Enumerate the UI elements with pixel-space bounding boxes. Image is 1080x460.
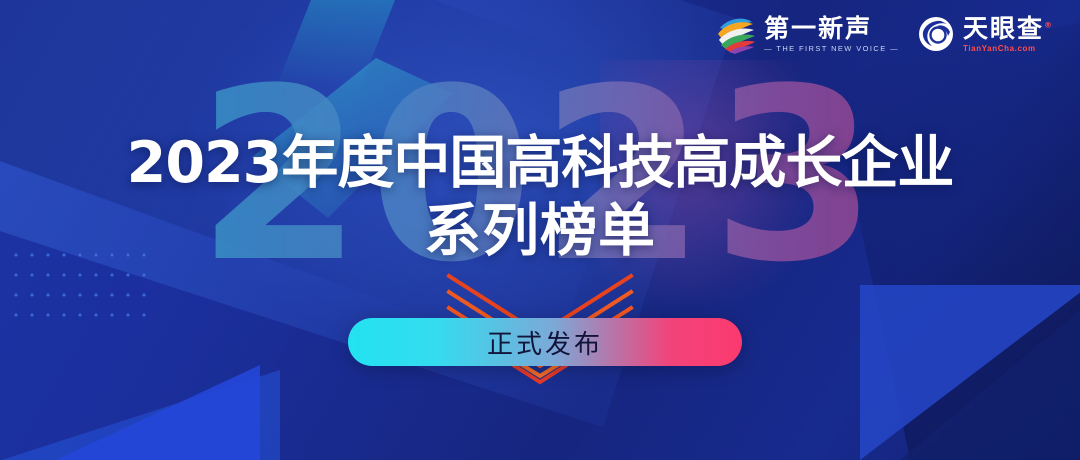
page-title: 2023年度中国高科技高成长企业 系列榜单	[0, 134, 1080, 260]
logo-tianyancha-text: 天眼查® TianYanCha.com	[963, 16, 1054, 53]
headline-line-2: 系列榜单	[0, 202, 1080, 260]
headline-line-1: 2023年度中国高科技高成长企业	[0, 134, 1080, 192]
trademark-icon: ®	[1044, 20, 1054, 29]
logo-diyixinsheng-text: 第一新声 — THE FIRST NEW VOICE —	[764, 16, 899, 53]
eye-lens-logo-icon	[917, 15, 955, 53]
logo-bar: 第一新声 — THE FIRST NEW VOICE — 天眼查® TianYa…	[714, 14, 1054, 54]
diagonal-triangle-bottom-right-secondary-icon	[900, 310, 1080, 460]
promo-banner: 2023 第一新声 — THE F	[0, 0, 1080, 460]
release-cta-label: 正式发布	[487, 324, 603, 361]
logo-tianyancha-name: 天眼查®	[963, 16, 1054, 41]
logo-diyixinsheng-name: 第一新声	[764, 16, 899, 41]
diagonal-triangle-bottom-left-icon	[0, 365, 260, 460]
logo-diyixinsheng[interactable]: 第一新声 — THE FIRST NEW VOICE —	[714, 14, 899, 54]
logo-tianyancha-tagline: TianYanCha.com	[963, 45, 1054, 53]
swoosh-logo-icon	[714, 14, 756, 54]
release-cta-button[interactable]: 正式发布	[348, 318, 742, 366]
logo-diyixinsheng-tagline: — THE FIRST NEW VOICE —	[764, 45, 899, 53]
logo-tianyancha[interactable]: 天眼查® TianYanCha.com	[917, 15, 1054, 53]
